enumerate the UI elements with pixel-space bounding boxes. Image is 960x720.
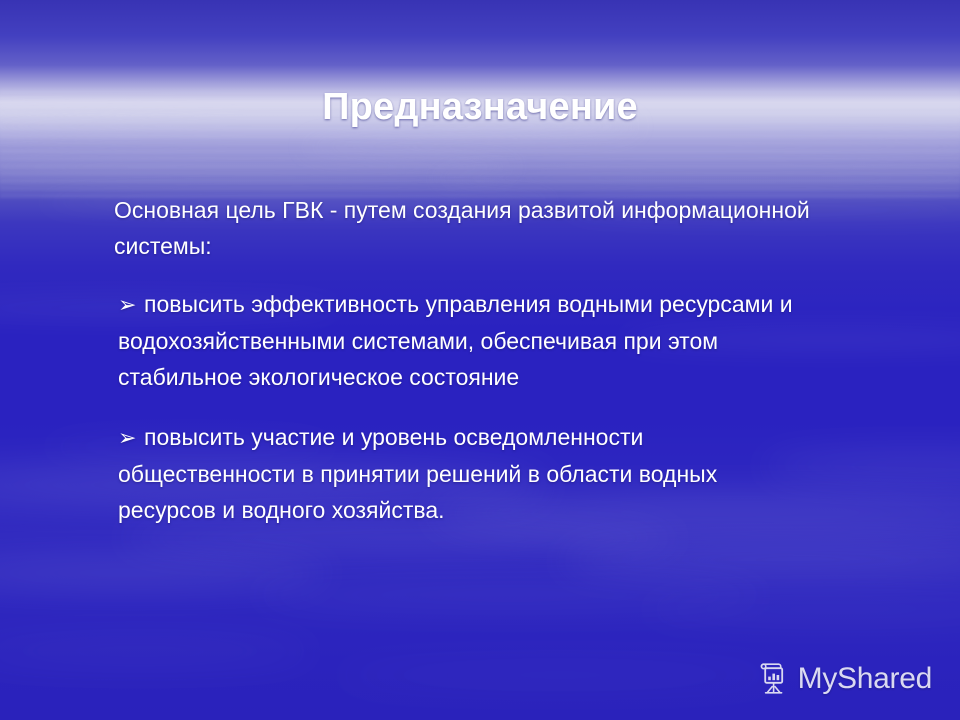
bullet-item: ➢повысить участие и уровень осведомленно… — [100, 419, 910, 528]
bullet-line: общественности в принятии решений в обла… — [118, 456, 910, 492]
slide-body: Основная цель ГВК - путем создания разви… — [100, 192, 910, 552]
bullet-line: стабильное экологическое состояние — [118, 359, 910, 395]
bullet-line: ➢повысить участие и уровень осведомленно… — [118, 419, 910, 456]
bullet-item: ➢повысить эффективность управления водны… — [100, 286, 910, 395]
bullet-arrow-icon: ➢ — [118, 287, 144, 323]
slide-content: Предназначение Основная цель ГВК - путем… — [0, 0, 960, 720]
bullet-text-block: ➢повысить участие и уровень осведомленно… — [118, 419, 910, 528]
slide-title: Предназначение — [0, 86, 960, 129]
watermark-brand-label: MyShared — [798, 664, 932, 694]
bullet-line: ресурсов и водного хозяйства. — [118, 492, 910, 528]
bullet-line: водохозяйственными системами, обеспечива… — [118, 323, 910, 359]
bullet-text-block: ➢повысить эффективность управления водны… — [118, 286, 910, 395]
bullet-line-text: повысить эффективность управления водным… — [144, 291, 793, 317]
myshared-watermark: MyShared — [756, 662, 932, 696]
bullet-arrow-icon: ➢ — [118, 420, 144, 456]
flipchart-chart-icon — [756, 662, 790, 696]
bullet-line: ➢повысить эффективность управления водны… — [118, 286, 910, 323]
intro-paragraph: Основная цель ГВК - путем создания разви… — [100, 192, 910, 264]
presentation-slide: Предназначение Основная цель ГВК - путем… — [0, 0, 960, 720]
bullet-line-text: повысить участие и уровень осведомленнос… — [144, 424, 643, 450]
